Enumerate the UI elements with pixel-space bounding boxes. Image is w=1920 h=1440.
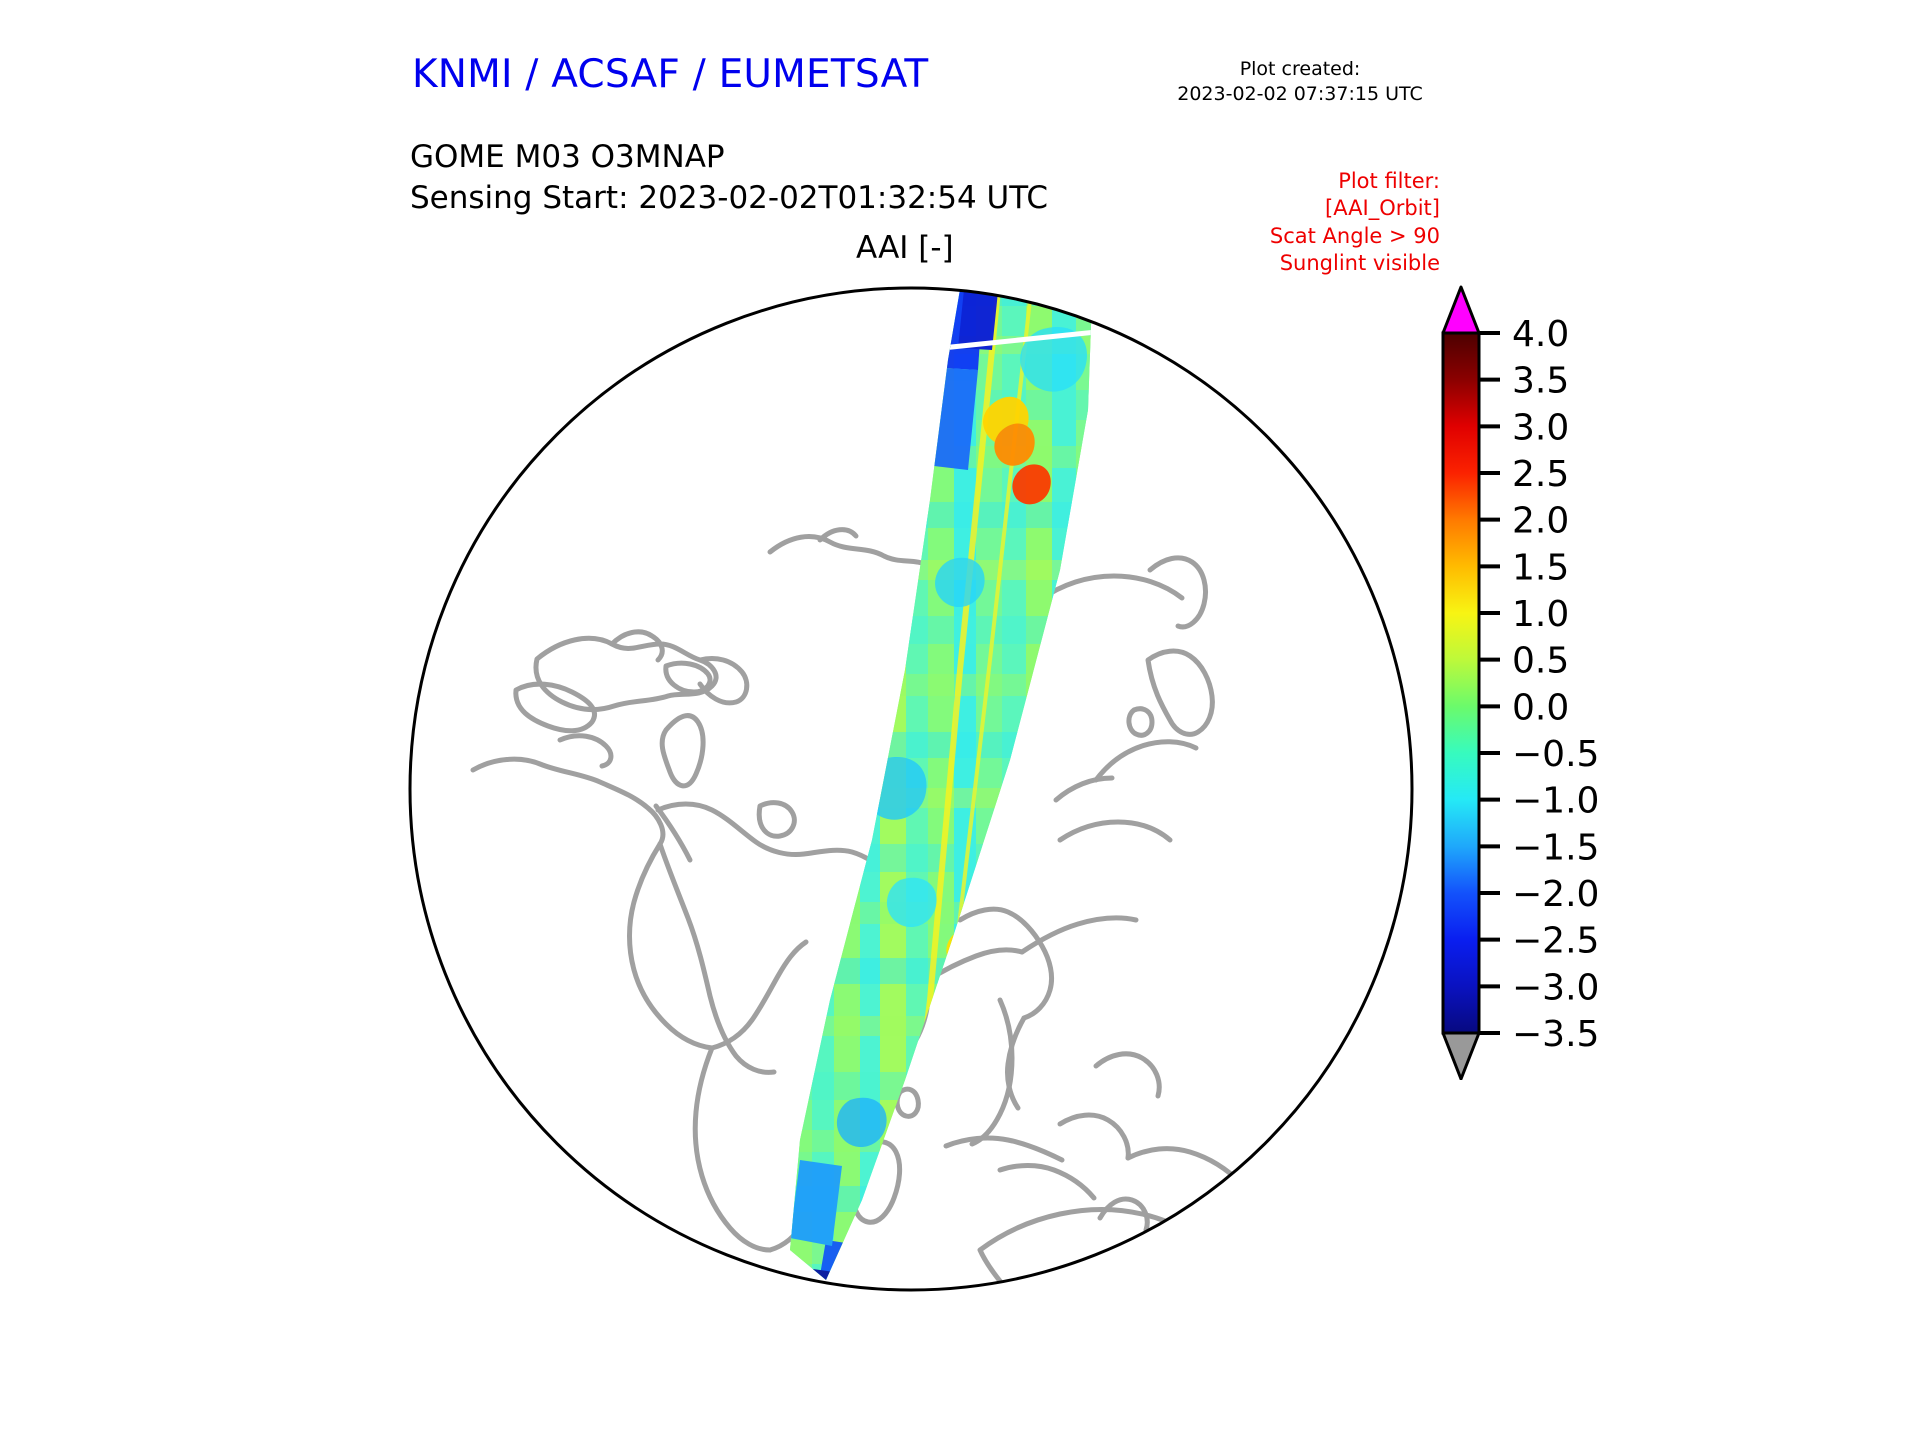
colorbar-tick-label: 1.5	[1512, 547, 1569, 588]
plot-filter-line-0: [AAI_Orbit]	[1190, 195, 1440, 222]
colorbar-over-arrow	[1443, 287, 1479, 333]
colorbar-tick-label: −1.5	[1512, 827, 1599, 868]
colorbar-tick-label: −2.0	[1512, 874, 1599, 915]
colorbar-tick-label: 2.0	[1512, 501, 1569, 542]
plot-filter-heading: Plot filter:	[1190, 168, 1440, 195]
colorbar-tick-label: 0.5	[1512, 641, 1569, 682]
colorbar-tick-label: −1.0	[1512, 781, 1599, 822]
plot-page: KNMI / ACSAF / EUMETSAT Plot created: 20…	[0, 0, 1920, 1440]
colorbar-tick-label: 4.0	[1512, 314, 1569, 355]
colorbar-tick-label: 3.5	[1512, 361, 1569, 402]
colorbar: 4.03.53.02.52.01.51.00.50.0−0.5−1.0−1.5−…	[1430, 280, 1850, 1080]
plot-created-block: Plot created: 2023-02-02 07:37:15 UTC	[1160, 57, 1440, 107]
colorbar-tick-label: −2.5	[1512, 921, 1599, 962]
colorbar-svg: 4.03.53.02.52.01.51.00.50.0−0.5−1.0−1.5−…	[1430, 280, 1850, 1080]
colorbar-tick-label: −3.0	[1512, 967, 1599, 1008]
colorbar-tick-label: 3.0	[1512, 407, 1569, 448]
colorbar-tick-label: 2.5	[1512, 454, 1569, 495]
sensing-start-title: Sensing Start: 2023-02-02T01:32:54 UTC	[410, 178, 1048, 219]
map-canvas	[0, 240, 1420, 1350]
instrument-title: GOME M03 O3MNAP	[410, 137, 1048, 178]
colorbar-tick-label: −0.5	[1512, 734, 1599, 775]
colorbar-tick-label: −3.5	[1512, 1014, 1599, 1055]
orthographic-globe	[0, 240, 1420, 1350]
page-title: GOME M03 O3MNAP Sensing Start: 2023-02-0…	[410, 137, 1048, 219]
plot-created-label: Plot created:	[1160, 57, 1440, 82]
plot-created-timestamp: 2023-02-02 07:37:15 UTC	[1160, 82, 1440, 107]
colorbar-tick-label: 1.0	[1512, 594, 1569, 635]
colorbar-ticks: 4.03.53.02.52.01.51.00.50.0−0.5−1.0−1.5−…	[1479, 314, 1599, 1055]
colorbar-under-arrow	[1443, 1033, 1479, 1079]
organisation-title: KNMI / ACSAF / EUMETSAT	[412, 52, 928, 97]
colorbar-tick-label: 0.0	[1512, 687, 1569, 728]
colorbar-gradient	[1443, 333, 1479, 1033]
